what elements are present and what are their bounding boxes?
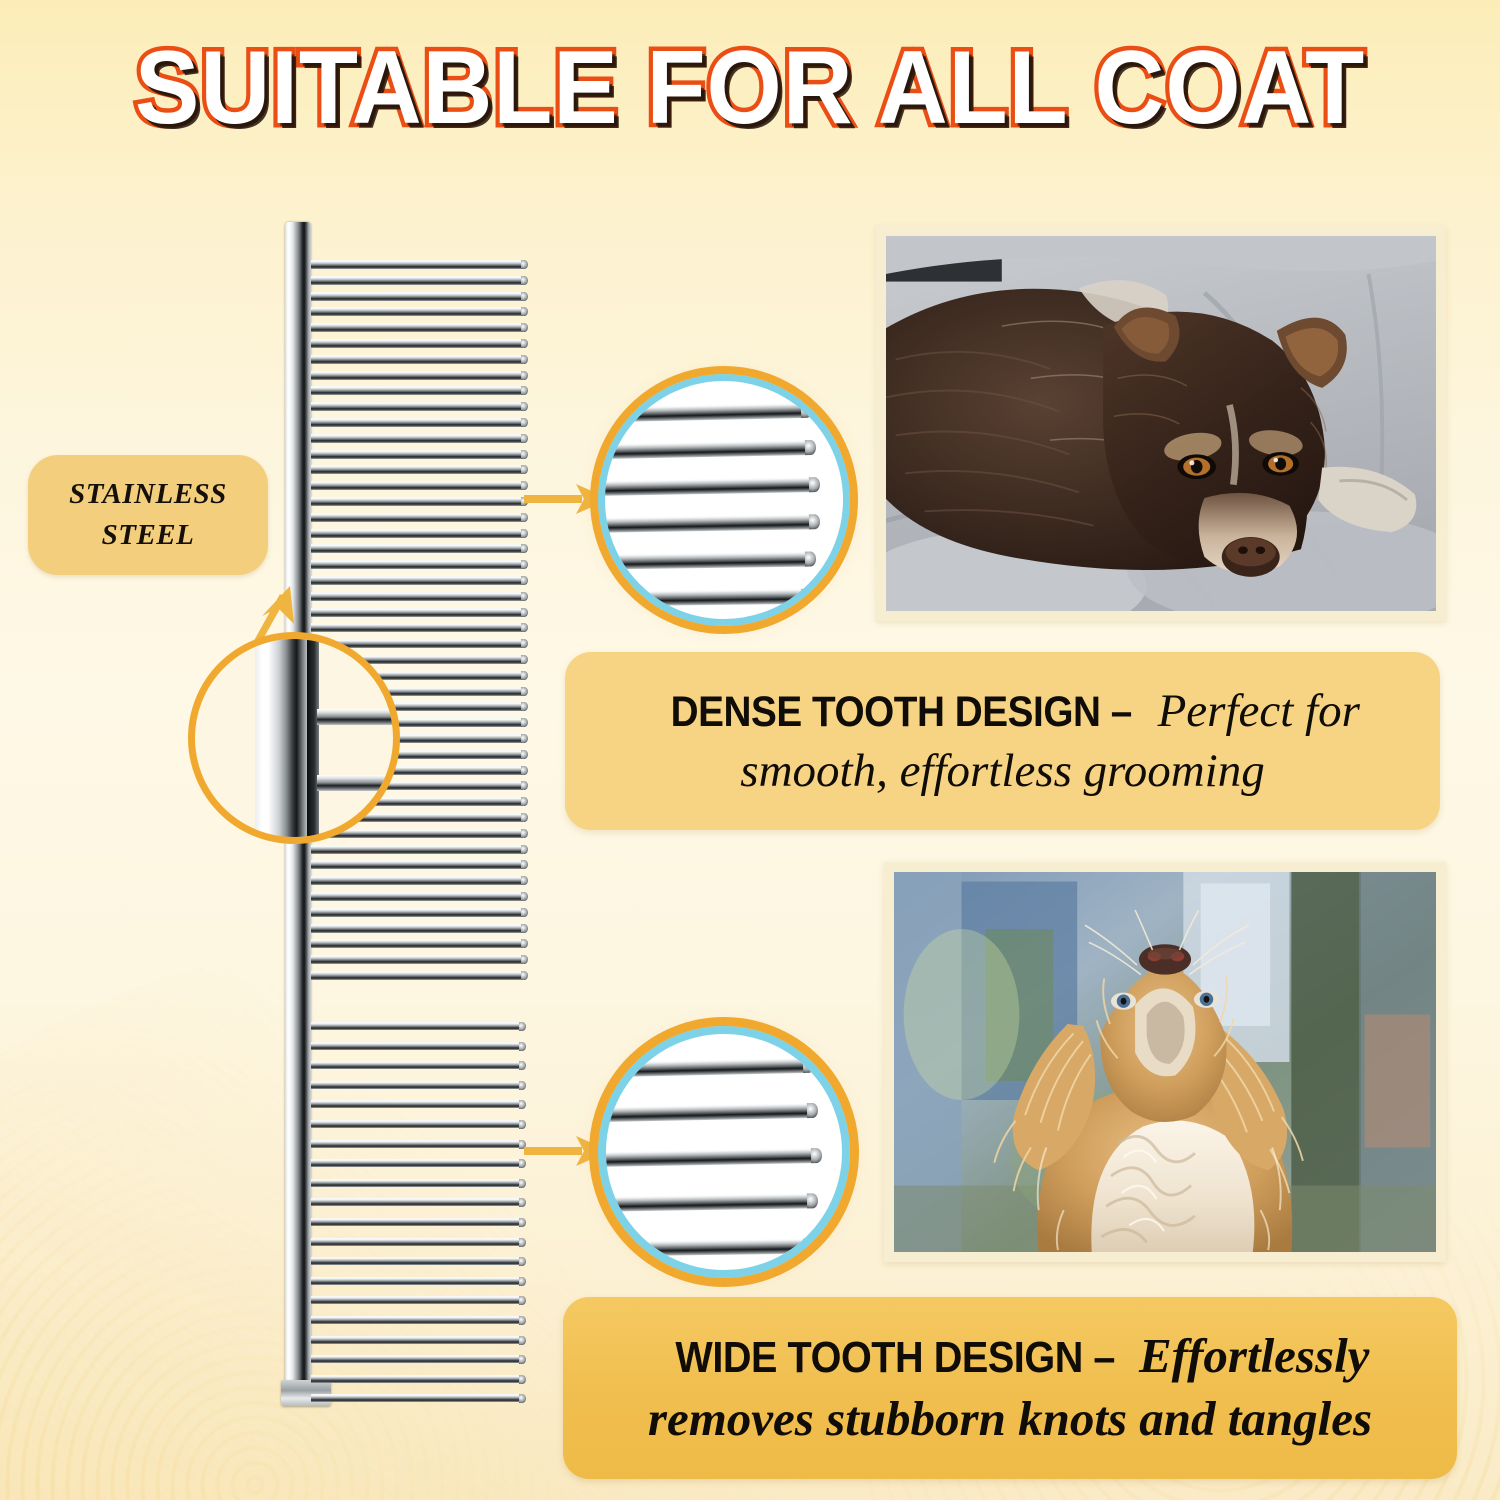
- handle-zoom-tooth: [317, 775, 400, 791]
- comb-tooth-wide: [311, 1316, 525, 1324]
- photo-brown-collie-image: [886, 236, 1436, 611]
- photo-golden-dog-image: [894, 872, 1436, 1252]
- comb-tooth-wide: [311, 1277, 525, 1285]
- handle-zoom-circle: [188, 632, 400, 844]
- comb-tooth-wide: [311, 1042, 525, 1050]
- comb-tooth-wide: [311, 1061, 525, 1069]
- material-label-line2: STEEL: [102, 515, 195, 556]
- comb-tooth-wide: [311, 1081, 525, 1089]
- material-label-stainless-steel: STAINLESS STEEL: [28, 455, 268, 575]
- comb-tooth-wide: [311, 1159, 525, 1167]
- wide-zoom-rod: [598, 1103, 816, 1122]
- wide-zoom-rod: [598, 1193, 816, 1211]
- dense-tooth-zoom-circle: [598, 374, 850, 626]
- caption-wide-tooth-design: WIDE TOOTH DESIGN – Effortlessly removes…: [563, 1297, 1457, 1479]
- wide-zoom-rod: [602, 1239, 812, 1257]
- comb-tooth-wide: [311, 1140, 525, 1148]
- handle-zoom-spine: [255, 632, 307, 844]
- wide-zoom-rod: [598, 1148, 820, 1167]
- comb-tooth-wide: [311, 1394, 525, 1402]
- comb-tooth-wide: [311, 1238, 525, 1246]
- comb-tooth-wide: [311, 1336, 525, 1344]
- page-title: SUITABLE FOR ALL COAT: [53, 34, 1448, 143]
- caption-dense-tooth-design: DENSE TOOTH DESIGN – Perfect for smooth,…: [565, 652, 1440, 830]
- comb-tooth-wide: [311, 1022, 525, 1030]
- comb-tooth-wide: [311, 1296, 525, 1304]
- photo-brown-collie-resting: [876, 226, 1446, 621]
- wide-tooth-zoom-circle: [598, 1026, 850, 1278]
- comb-tooth-wide: [311, 1355, 525, 1363]
- comb-tooth-wide: [311, 1257, 525, 1265]
- comb-tooth-wide: [311, 1120, 525, 1128]
- material-label-line1: STAINLESS: [69, 474, 227, 515]
- comb-tooth-wide: [311, 1375, 525, 1383]
- wide-zoom-rod: [602, 1058, 812, 1077]
- handle-zoom-tooth: [317, 709, 400, 725]
- caption-wide-strong: WIDE TOOTH DESIGN –: [675, 1330, 1115, 1386]
- dense-zoom-rod: [603, 589, 809, 607]
- dense-zoom-rod: [598, 477, 817, 496]
- comb-tooth-wide: [311, 1100, 525, 1108]
- comb-tooth-wide: [311, 1198, 525, 1206]
- photo-golden-dog-looking-up: [884, 862, 1446, 1262]
- caption-dense-strong: DENSE TOOTH DESIGN –: [671, 685, 1132, 740]
- dense-zoom-rod: [603, 403, 809, 422]
- infographic-canvas: SUITABLE FOR ALL COAT STAINLESS STEEL: [0, 0, 1500, 1500]
- comb-tooth-wide: [311, 1179, 525, 1187]
- comb-tooth-wide: [311, 1218, 525, 1226]
- dense-zoom-rod: [598, 552, 813, 570]
- handle-zoom-shadow-gap: [307, 632, 319, 844]
- dense-zoom-rod: [598, 440, 813, 459]
- dense-zoom-rod: [598, 514, 817, 533]
